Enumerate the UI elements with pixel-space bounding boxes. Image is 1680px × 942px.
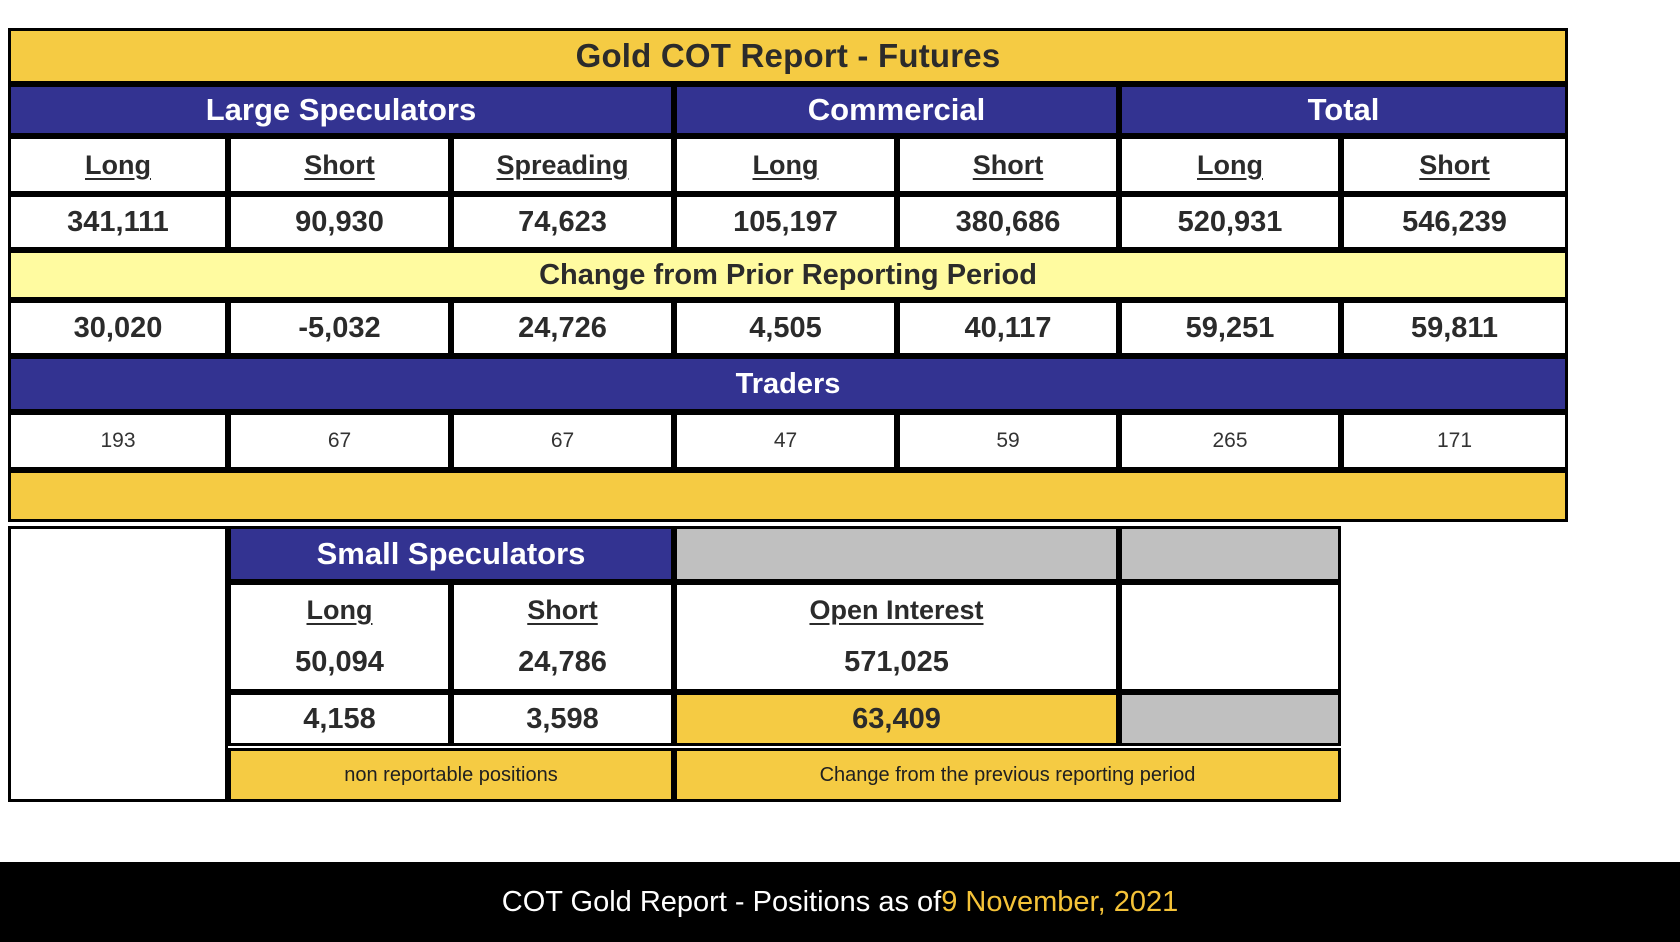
footer-bar: COT Gold Report - Positions as of 9 Nove… [0, 862, 1680, 942]
ss-change-value-2: 63,409 [674, 692, 1119, 746]
ss-position-value: 24,786 [518, 646, 607, 679]
footer-prefix: COT Gold Report - Positions as of [502, 886, 941, 919]
traders-band-label: Traders [8, 356, 1568, 412]
traders-value-3: 47 [674, 412, 897, 470]
column-header-label: Long [1197, 150, 1263, 181]
column-header-label: Long [753, 150, 819, 181]
column-header-0: Long [8, 136, 228, 194]
position-value-0: 341,111 [8, 194, 228, 250]
cot-report-table: Gold COT Report - FuturesLarge Speculato… [0, 0, 1680, 942]
ss-column-cell-2: Open Interest571,025 [674, 582, 1119, 692]
ss-change-value-1: 3,598 [451, 692, 674, 746]
position-value-3: 105,197 [674, 194, 897, 250]
column-header-3: Long [674, 136, 897, 194]
column-header-label: Short [1419, 150, 1490, 181]
grey-filler-top-center [674, 526, 1119, 582]
position-value-1: 90,930 [228, 194, 451, 250]
change-value-0: 30,020 [8, 300, 228, 356]
report-title: Gold COT Report - Futures [8, 28, 1568, 84]
change-value-6: 59,811 [1341, 300, 1568, 356]
bottom-left-filler [8, 526, 228, 802]
column-header-1: Short [228, 136, 451, 194]
change-value-1: -5,032 [228, 300, 451, 356]
ss-position-value: 50,094 [295, 646, 384, 679]
column-header-2: Spreading [451, 136, 674, 194]
group-header-large-speculators: Large Speculators [8, 84, 674, 136]
position-value-4: 380,686 [897, 194, 1119, 250]
grey-filler-top-right [1119, 526, 1341, 582]
traders-value-6: 171 [1341, 412, 1568, 470]
traders-value-2: 67 [451, 412, 674, 470]
ss-right-filler [1119, 582, 1341, 692]
position-value-2: 74,623 [451, 194, 674, 250]
column-header-label: Spreading [496, 150, 628, 181]
note-non-reportable: non reportable positions [228, 748, 674, 802]
column-header-5: Long [1119, 136, 1341, 194]
ss-column-header-label: Open Interest [809, 595, 983, 626]
position-value-6: 546,239 [1341, 194, 1568, 250]
group-header-commercial: Commercial [674, 84, 1119, 136]
group-header-total: Total [1119, 84, 1568, 136]
ss-column-header-label: Short [527, 595, 598, 626]
ss-column-header-label: Long [307, 595, 373, 626]
column-header-label: Short [973, 150, 1044, 181]
position-value-5: 520,931 [1119, 194, 1341, 250]
note-change-previous: Change from the previous reporting perio… [674, 748, 1341, 802]
column-header-6: Short [1341, 136, 1568, 194]
change-value-2: 24,726 [451, 300, 674, 356]
ss-change-value-0: 4,158 [228, 692, 451, 746]
traders-value-5: 265 [1119, 412, 1341, 470]
change-value-3: 4,505 [674, 300, 897, 356]
ss-position-value: 571,025 [844, 646, 949, 679]
change-band-label: Change from Prior Reporting Period [8, 250, 1568, 300]
column-header-label: Short [304, 150, 375, 181]
ss-column-cell-0: Long50,094 [228, 582, 451, 692]
column-header-4: Short [897, 136, 1119, 194]
ss-column-cell-1: Short24,786 [451, 582, 674, 692]
gold-spacer-bar [8, 470, 1568, 522]
change-value-5: 59,251 [1119, 300, 1341, 356]
change-value-4: 40,117 [897, 300, 1119, 356]
footer-date: 9 November, 2021 [941, 886, 1178, 919]
small-speculators-group-header: Small Speculators [228, 526, 674, 582]
traders-value-1: 67 [228, 412, 451, 470]
traders-value-0: 193 [8, 412, 228, 470]
grey-filler-bottom-right [1119, 692, 1341, 746]
traders-value-4: 59 [897, 412, 1119, 470]
column-header-label: Long [85, 150, 151, 181]
